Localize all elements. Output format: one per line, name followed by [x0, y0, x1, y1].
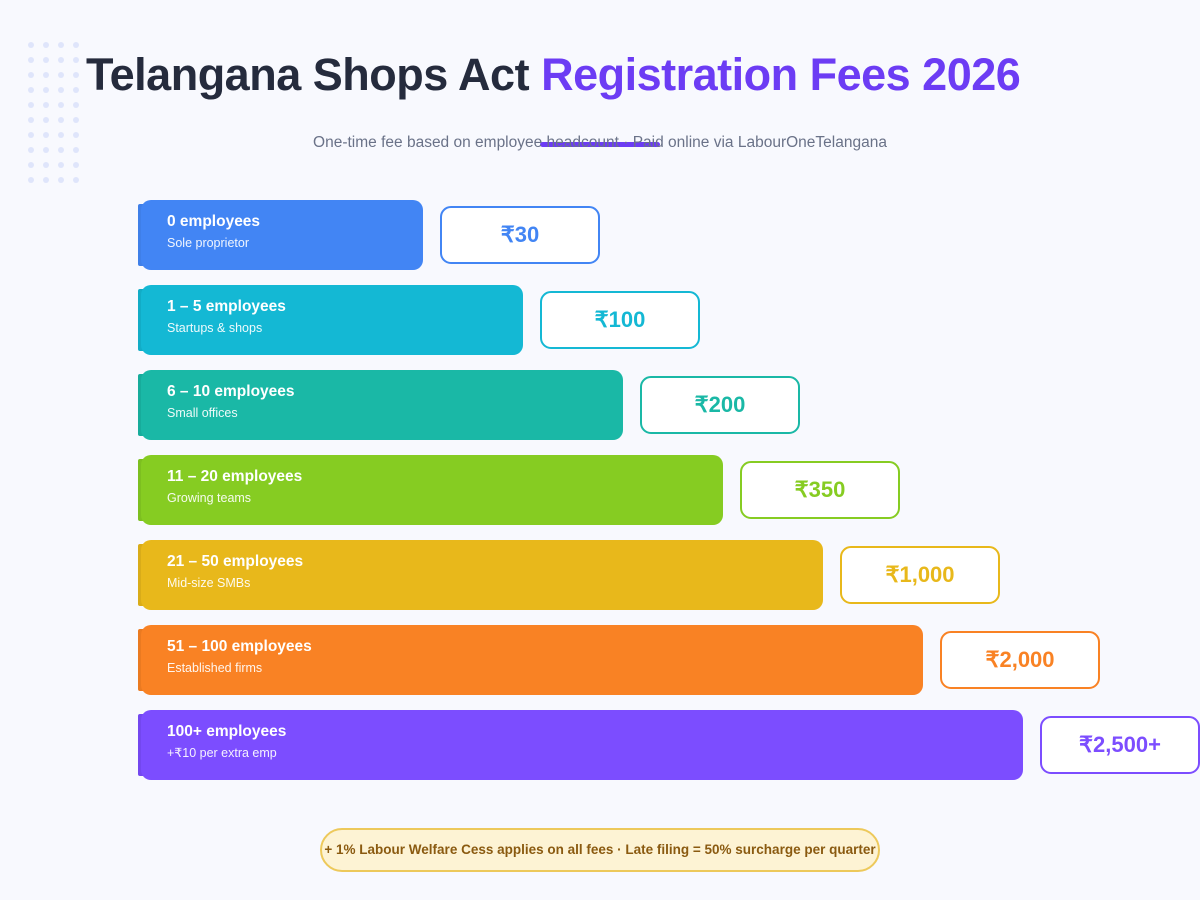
slab-fee-pill[interactable]: ₹2,500+	[1040, 716, 1200, 774]
decorative-dot	[43, 177, 49, 183]
decorative-dot	[58, 117, 64, 123]
slab-bar-wrap: 6 – 10 employeesSmall offices	[138, 370, 623, 440]
slab-bar-wrap: 0 employeesSole proprietor	[138, 200, 423, 270]
slab-subtitle: Small offices	[167, 405, 623, 421]
fee-slab-row: 11 – 20 employeesGrowing teams₹350	[0, 455, 1200, 525]
slab-title: 21 – 50 employees	[167, 552, 823, 572]
decorative-dot	[28, 177, 34, 183]
fee-slab-list: 0 employeesSole proprietor₹301 – 5 emplo…	[0, 200, 1200, 795]
decorative-dot	[28, 117, 34, 123]
slab-title: 51 – 100 employees	[167, 637, 923, 657]
slab-subtitle: Growing teams	[167, 490, 723, 506]
fee-slab-row: 0 employeesSole proprietor₹30	[0, 200, 1200, 270]
decorative-dot	[73, 177, 79, 183]
slab-bar[interactable]: 6 – 10 employeesSmall offices	[141, 370, 623, 440]
slab-bar-wrap: 100+ employees+₹10 per extra emp	[138, 710, 1023, 780]
slab-bar-wrap: 51 – 100 employeesEstablished firms	[138, 625, 923, 695]
slab-subtitle: Mid-size SMBs	[167, 575, 823, 591]
slab-title: 0 employees	[167, 212, 423, 232]
slab-bar[interactable]: 0 employeesSole proprietor	[141, 200, 423, 270]
slab-subtitle: Sole proprietor	[167, 235, 423, 251]
fee-slab-row: 100+ employees+₹10 per extra emp₹2,500+	[0, 710, 1200, 780]
slab-bar[interactable]: 21 – 50 employeesMid-size SMBs	[141, 540, 823, 610]
slab-fee-pill[interactable]: ₹100	[540, 291, 700, 349]
slab-fee-pill[interactable]: ₹2,000	[940, 631, 1100, 689]
slab-fee-pill[interactable]: ₹200	[640, 376, 800, 434]
decorative-dot	[58, 162, 64, 168]
fee-slab-row: 21 – 50 employeesMid-size SMBs₹1,000	[0, 540, 1200, 610]
slab-title: 11 – 20 employees	[167, 467, 723, 487]
decorative-dot	[43, 117, 49, 123]
slab-bar[interactable]: 11 – 20 employeesGrowing teams	[141, 455, 723, 525]
slab-fee-pill[interactable]: ₹350	[740, 461, 900, 519]
slab-bar-wrap: 1 – 5 employeesStartups & shops	[138, 285, 523, 355]
slab-bar[interactable]: 100+ employees+₹10 per extra emp	[141, 710, 1023, 780]
fee-slab-row: 1 – 5 employeesStartups & shops₹100	[0, 285, 1200, 355]
slab-title: 1 – 5 employees	[167, 297, 523, 317]
decorative-dot	[43, 162, 49, 168]
decorative-dot	[28, 162, 34, 168]
decorative-dot	[73, 162, 79, 168]
footer-note-pill	[320, 828, 880, 872]
slab-title: 6 – 10 employees	[167, 382, 623, 402]
slab-bar[interactable]: 1 – 5 employeesStartups & shops	[141, 285, 523, 355]
slab-subtitle: Established firms	[167, 660, 923, 676]
slab-subtitle: +₹10 per extra emp	[167, 745, 1023, 761]
page-title-accent: Registration Fees 2026	[541, 49, 1020, 100]
decorative-dot	[58, 177, 64, 183]
page-title-main: Telangana Shops Act	[86, 49, 541, 100]
slab-title: 100+ employees	[167, 722, 1023, 742]
page-title: Telangana Shops Act Registration Fees 20…	[0, 46, 1200, 104]
header: Telangana Shops Act Registration Fees 20…	[0, 46, 1200, 104]
page-subtitle: One-time fee based on employee headcount…	[0, 134, 1200, 152]
fee-slab-row: 51 – 100 employeesEstablished firms₹2,00…	[0, 625, 1200, 695]
slab-bar-wrap: 11 – 20 employeesGrowing teams	[138, 455, 723, 525]
decorative-dot	[73, 117, 79, 123]
slab-subtitle: Startups & shops	[167, 320, 523, 336]
fee-slab-row: 6 – 10 employeesSmall offices₹200	[0, 370, 1200, 440]
slab-fee-pill[interactable]: ₹30	[440, 206, 600, 264]
slab-bar[interactable]: 51 – 100 employeesEstablished firms	[141, 625, 923, 695]
slab-bar-wrap: 21 – 50 employeesMid-size SMBs	[138, 540, 823, 610]
slab-fee-pill[interactable]: ₹1,000	[840, 546, 1000, 604]
